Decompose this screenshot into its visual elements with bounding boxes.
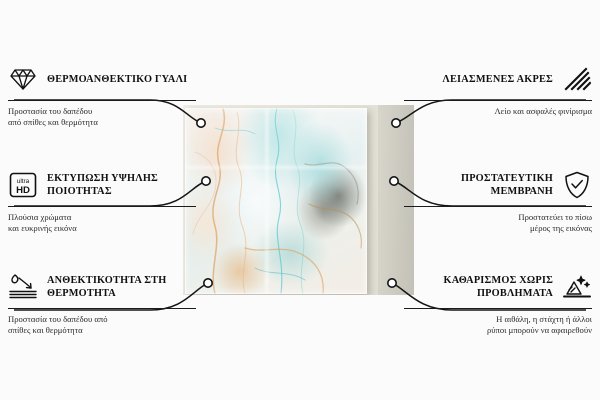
divider	[8, 206, 196, 207]
feature-header: ΑΝΘΕΚΤΙΚΟΤΗΤΑ ΣΤΗ ΘΕΡΜΟΤΗΤΑ	[8, 270, 196, 304]
feature-description: Λείο και ασφαλές φινίρισμα	[404, 106, 592, 117]
infographic-canvas: ΘΕΡΜΟΑΝΘΕΚΤΙΚΟ ΓΥΑΛΙ Προστασία του δαπέδ…	[0, 0, 600, 400]
feature-title: ΕΚΤΥΠΩΣΗ ΥΨΗΛΗΣ ΠΟΙΟΤΗΤΑΣ	[47, 172, 196, 198]
feature-title: ΚΑΘΑΡΙΣΜΟΣ ΧΩΡΙΣ ΠΡΟΒΛΗΜΑΤΑ	[404, 274, 553, 300]
feature-easy-cleaning: ΚΑΘΑΡΙΣΜΟΣ ΧΩΡΙΣ ΠΡΟΒΛΗΜΑΤΑ Η αιθάλη, η …	[404, 270, 592, 337]
svg-text:ultra: ultra	[17, 178, 30, 185]
svg-text:HD: HD	[16, 185, 30, 196]
desc-line-2: μέρος της εικόνας	[404, 223, 592, 234]
feature-description: Πλούσια χρώματα και ευκρινής εικόνα	[8, 212, 196, 235]
desc-line-1: Πλούσια χρώματα	[8, 212, 196, 223]
desc-line-1: Προστατεύει το πίσω	[404, 212, 592, 223]
desc-line-1: Προστασία του δαπέδου από	[8, 314, 196, 325]
feature-polished-edges: ΛΕΙΑΣΜΕΝΕΣ ΑΚΡΕΣ Λείο και ασφαλές φινίρι…	[404, 62, 592, 117]
desc-line-2: ρύποι μπορούν να αφαιρεθούν	[404, 325, 592, 336]
ultra-hd-badge-icon: ultra HD	[8, 170, 38, 200]
divider	[8, 308, 196, 309]
feature-description: Η αιθάλη, η στάχτη ή άλλοι ρύποι μπορούν…	[404, 314, 592, 337]
flame-deflect-icon	[8, 272, 38, 302]
divider	[404, 308, 592, 309]
desc-line-1: Η αιθάλη, η στάχτη ή άλλοι	[404, 314, 592, 325]
desc-line-1: Λείο και ασφαλές φινίρισμα	[404, 106, 592, 117]
feature-description: Προστατεύει το πίσω μέρος της εικόνας	[404, 212, 592, 235]
divider	[404, 100, 592, 101]
product-photo	[183, 105, 414, 295]
feature-description: Προστασία του δαπέδου από σπίθες και θερ…	[8, 106, 196, 129]
feature-title: ΑΝΘΕΚΤΙΚΟΤΗΤΑ ΣΤΗ ΘΕΡΜΟΤΗΤΑ	[47, 274, 196, 300]
desc-line-2: σπίθες και θερμότητα	[8, 325, 196, 336]
desc-line-2: και ευκρινής εικόνα	[8, 223, 196, 234]
divider	[404, 206, 592, 207]
feature-header: ΚΑΘΑΡΙΣΜΟΣ ΧΩΡΙΣ ΠΡΟΒΛΗΜΑΤΑ	[404, 270, 592, 304]
shield-check-icon	[562, 170, 592, 200]
wipe-sparkle-icon	[562, 272, 592, 302]
feature-header: ΘΕΡΜΟΑΝΘΕΚΤΙΚΟ ΓΥΑΛΙ	[8, 62, 196, 96]
diamond-icon	[8, 64, 38, 94]
divider	[8, 100, 196, 101]
feature-heat-resistant-glass: ΘΕΡΜΟΑΝΘΕΚΤΙΚΟ ΓΥΑΛΙ Προστασία του δαπέδ…	[8, 62, 196, 129]
feature-header: ΠΡΟΣΤΑΤΕΥΤΙΚΗ ΜΕΜΒΡΑΝΗ	[404, 168, 592, 202]
feature-description: Προστασία του δαπέδου από σπίθες και θερ…	[8, 314, 196, 337]
feature-title: ΛΕΙΑΣΜΕΝΕΣ ΑΚΡΕΣ	[404, 73, 553, 86]
feature-title: ΠΡΟΣΤΑΤΕΥΤΙΚΗ ΜΕΜΒΡΑΝΗ	[404, 172, 553, 198]
polished-edge-icon	[562, 64, 592, 94]
marble-veins	[185, 108, 367, 294]
feature-header: ultra HD ΕΚΤΥΠΩΣΗ ΥΨΗΛΗΣ ΠΟΙΟΤΗΤΑΣ	[8, 168, 196, 202]
glass-panel-artwork	[185, 108, 367, 294]
desc-line-1: Προστασία του δαπέδου	[8, 106, 196, 117]
feature-high-quality-print: ultra HD ΕΚΤΥΠΩΣΗ ΥΨΗΛΗΣ ΠΟΙΟΤΗΤΑΣ Πλούσ…	[8, 168, 196, 235]
feature-header: ΛΕΙΑΣΜΕΝΕΣ ΑΚΡΕΣ	[404, 62, 592, 96]
feature-title: ΘΕΡΜΟΑΝΘΕΚΤΙΚΟ ΓΥΑΛΙ	[47, 73, 196, 86]
feature-protective-membrane: ΠΡΟΣΤΑΤΕΥΤΙΚΗ ΜΕΜΒΡΑΝΗ Προστατεύει το πί…	[404, 168, 592, 235]
feature-heat-durability: ΑΝΘΕΚΤΙΚΟΤΗΤΑ ΣΤΗ ΘΕΡΜΟΤΗΤΑ Προστασία το…	[8, 270, 196, 337]
desc-line-2: από σπίθες και θερμότητα	[8, 117, 196, 128]
